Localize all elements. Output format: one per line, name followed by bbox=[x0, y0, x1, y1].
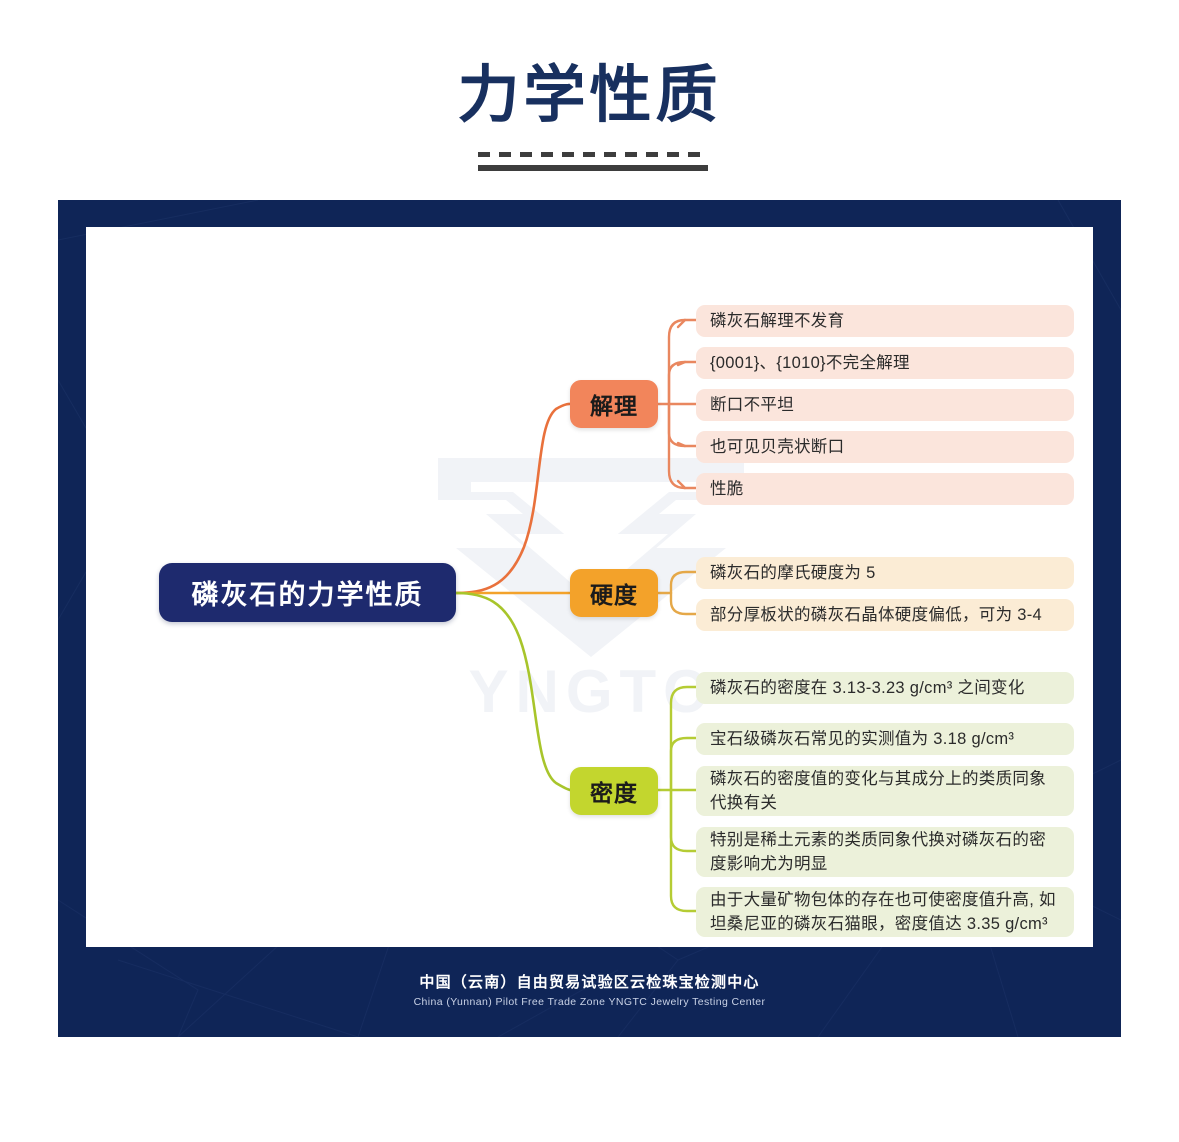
branch-node-density[interactable]: 密度 bbox=[570, 767, 658, 815]
branch-label-hardness: 硬度 bbox=[590, 576, 638, 610]
footer-cn-text: 中国（云南）自由贸易试验区云检珠宝检测中心 bbox=[58, 972, 1121, 994]
leaf-node[interactable]: {0001}、{1010}不完全解理 bbox=[696, 347, 1074, 379]
leaf-node[interactable]: 宝石级磷灰石常见的实测值为 3.18 g/cm³ bbox=[696, 723, 1074, 755]
cleavage-spine-dn1 bbox=[669, 404, 685, 446]
branch-node-hardness[interactable]: 硬度 bbox=[570, 569, 658, 617]
leaf-node[interactable]: 磷灰石的密度在 3.13-3.23 g/cm³ 之间变化 bbox=[696, 672, 1074, 704]
branch-label-density: 密度 bbox=[590, 774, 638, 808]
leaf-node[interactable]: 磷灰石解理不发育 bbox=[696, 305, 1074, 337]
density-elbow-2 bbox=[671, 738, 696, 790]
footer: 中国（云南）自由贸易试验区云检珠宝检测中心 China (Yunnan) Pil… bbox=[58, 972, 1121, 1037]
branch-label-cleavage: 解理 bbox=[590, 387, 638, 421]
leaf-node[interactable]: 性脆 bbox=[696, 473, 1074, 505]
trunk-cleavage bbox=[456, 404, 570, 593]
mindmap-panel: YNGTC bbox=[58, 200, 1121, 1037]
leaf-text: 性脆 bbox=[710, 477, 744, 501]
leaf-text: 磷灰石解理不发育 bbox=[710, 309, 844, 333]
leaf-text: 断口不平坦 bbox=[710, 393, 794, 417]
leaf-text: 由于大量矿物包体的存在也可使密度值升高, 如坦桑尼亚的磷灰石猫眼，密度值达 3.… bbox=[710, 888, 1060, 936]
leaf-text: 磷灰石的密度值的变化与其成分上的类质同象代换有关 bbox=[710, 767, 1060, 815]
leaf-text: 磷灰石的密度在 3.13-3.23 g/cm³ 之间变化 bbox=[710, 676, 1025, 700]
cleavage-spine-up2 bbox=[669, 362, 685, 404]
hardness-elbow-1 bbox=[671, 572, 696, 593]
center-node[interactable]: 磷灰石的力学性质 bbox=[159, 563, 456, 622]
leaf-node[interactable]: 磷灰石的摩氏硬度为 5 bbox=[696, 557, 1074, 589]
footer-en-text: China (Yunnan) Pilot Free Trade Zone YNG… bbox=[58, 994, 1121, 1011]
center-node-label: 磷灰石的力学性质 bbox=[192, 573, 424, 612]
leaf-node[interactable]: 断口不平坦 bbox=[696, 389, 1074, 421]
leaf-text: {0001}、{1010}不完全解理 bbox=[710, 351, 910, 375]
leaf-text: 磷灰石的摩氏硬度为 5 bbox=[710, 561, 876, 585]
hardness-elbow-2 bbox=[671, 593, 696, 614]
mindmap-canvas: YNGTC bbox=[86, 227, 1093, 947]
trunk-density bbox=[456, 593, 570, 790]
leaf-node[interactable]: 特别是稀土元素的类质同象代换对磷灰石的密度影响尤为明显 bbox=[696, 827, 1074, 877]
leaf-node[interactable]: 磷灰石的密度值的变化与其成分上的类质同象代换有关 bbox=[696, 766, 1074, 816]
leaf-node[interactable]: 部分厚板状的磷灰石晶体硬度偏低，可为 3-4 bbox=[696, 599, 1074, 631]
leaf-text: 也可见贝壳状断口 bbox=[710, 435, 844, 459]
solid-rule bbox=[478, 165, 708, 171]
leaf-text: 特别是稀土元素的类质同象代换对磷灰石的密度影响尤为明显 bbox=[710, 828, 1060, 876]
page-title: 力学性质 bbox=[0, 58, 1179, 134]
title-underline-rule bbox=[478, 152, 708, 176]
leaf-text: 部分厚板状的磷灰石晶体硬度偏低，可为 3-4 bbox=[710, 603, 1042, 627]
leaf-node[interactable]: 由于大量矿物包体的存在也可使密度值升高, 如坦桑尼亚的磷灰石猫眼，密度值达 3.… bbox=[696, 887, 1074, 937]
dashed-rule bbox=[478, 152, 708, 157]
leaf-text: 宝石级磷灰石常见的实测值为 3.18 g/cm³ bbox=[710, 727, 1014, 751]
density-elbow-4 bbox=[671, 790, 696, 851]
branch-node-cleavage[interactable]: 解理 bbox=[570, 380, 658, 428]
leaf-node[interactable]: 也可见贝壳状断口 bbox=[696, 431, 1074, 463]
